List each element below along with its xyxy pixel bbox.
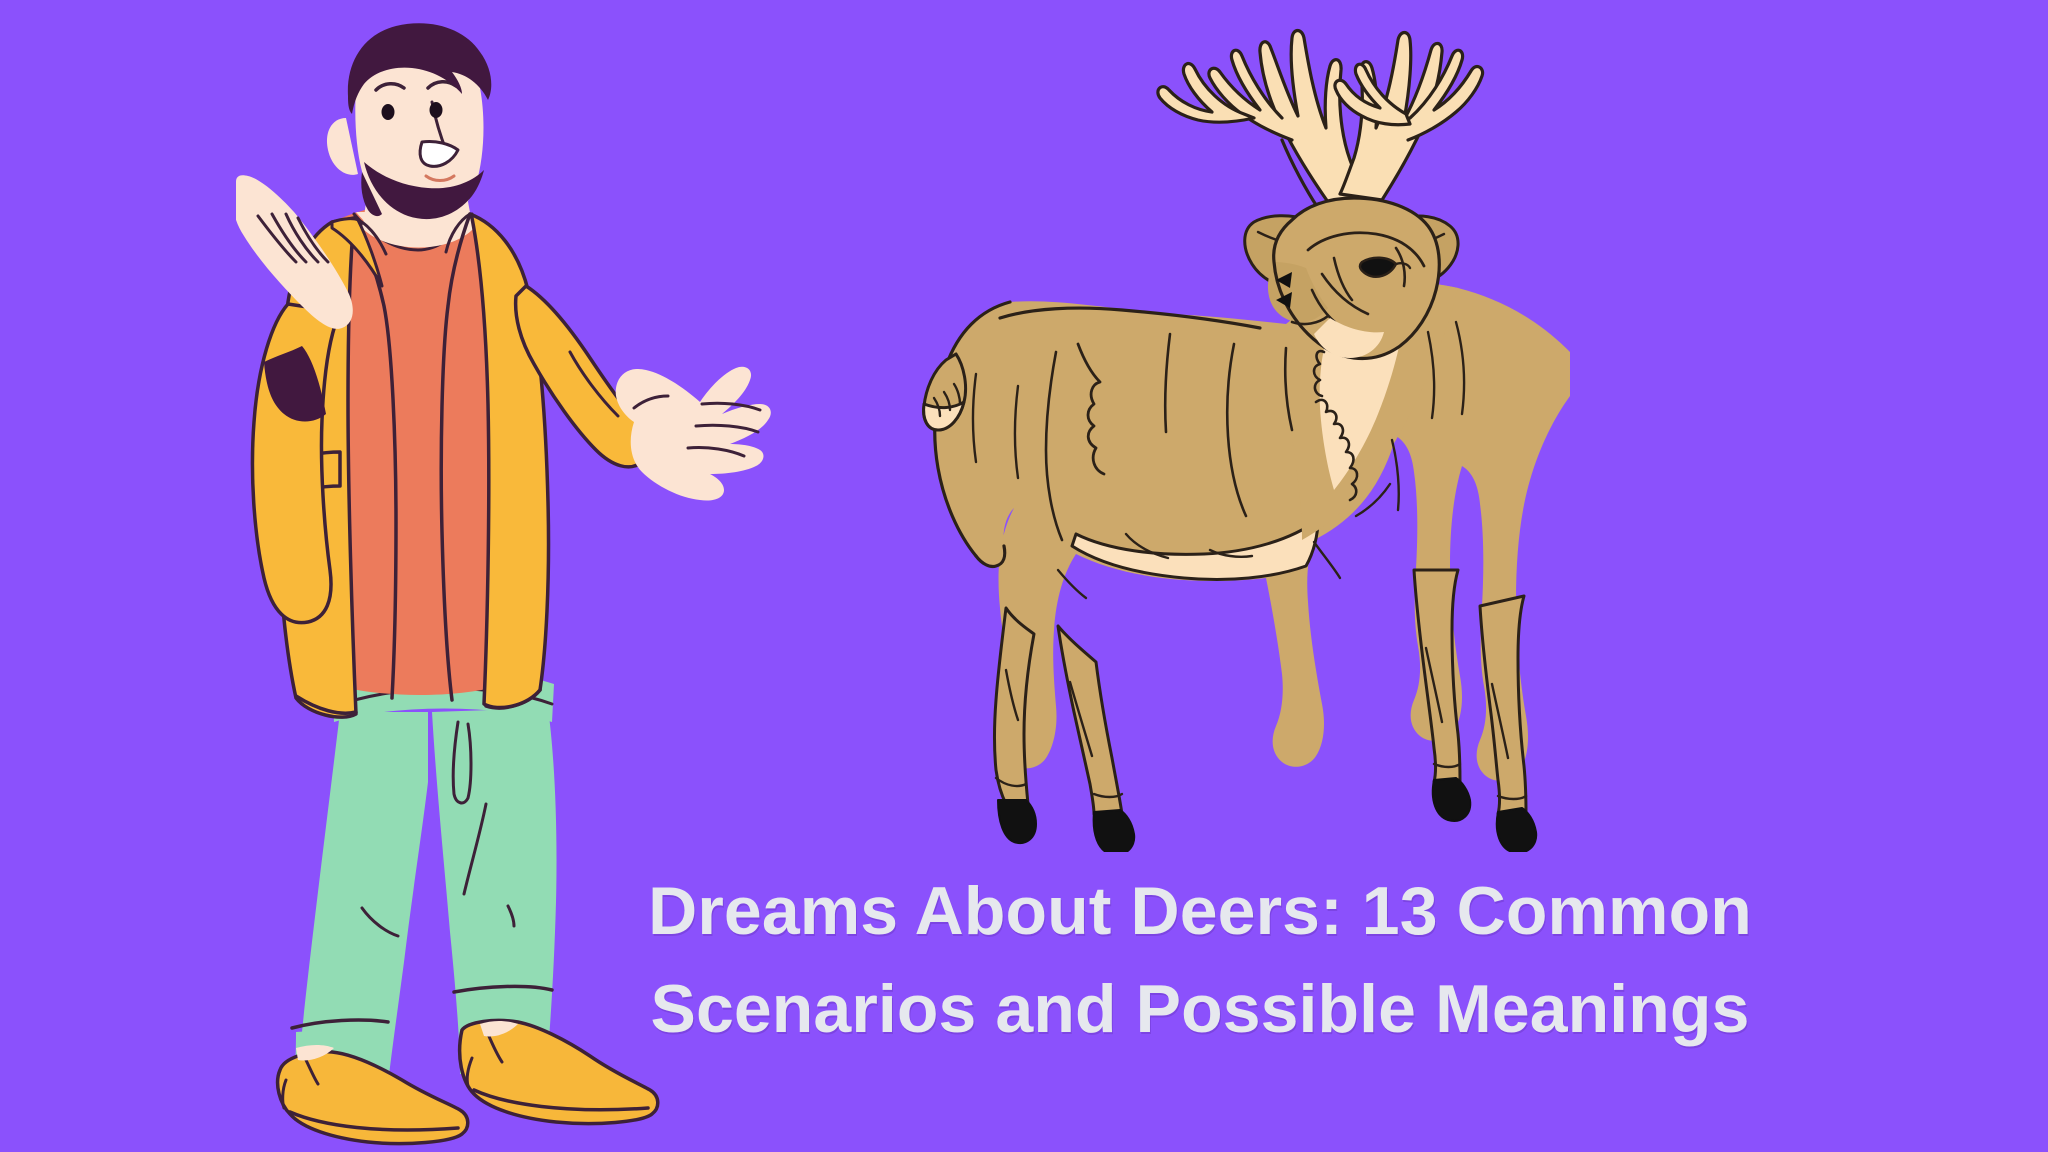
left-antler: [1158, 31, 1366, 209]
ear: [327, 118, 358, 175]
right-eye: [430, 102, 443, 118]
right-hand: [616, 367, 771, 501]
left-eye: [382, 104, 395, 120]
deer-stag-illustration: [910, 22, 1590, 852]
near-hind-hoof: [1094, 810, 1135, 852]
far-hind-hoof: [998, 800, 1036, 843]
near-hind-leg: [1058, 626, 1122, 814]
poster-title: Dreams About Deers: 13 Common Scenarios …: [560, 862, 1840, 1058]
title-line-1: Dreams About Deers: 13 Common: [560, 862, 1840, 960]
far-front-hoof: [1433, 778, 1470, 821]
title-line-2: Scenarios and Possible Meanings: [560, 960, 1840, 1058]
poster-canvas: Dreams About Deers: 13 Common Scenarios …: [0, 0, 2048, 1152]
deer-body: [935, 282, 1570, 781]
near-front-hoof: [1497, 808, 1536, 852]
right-antler: [1335, 33, 1483, 201]
